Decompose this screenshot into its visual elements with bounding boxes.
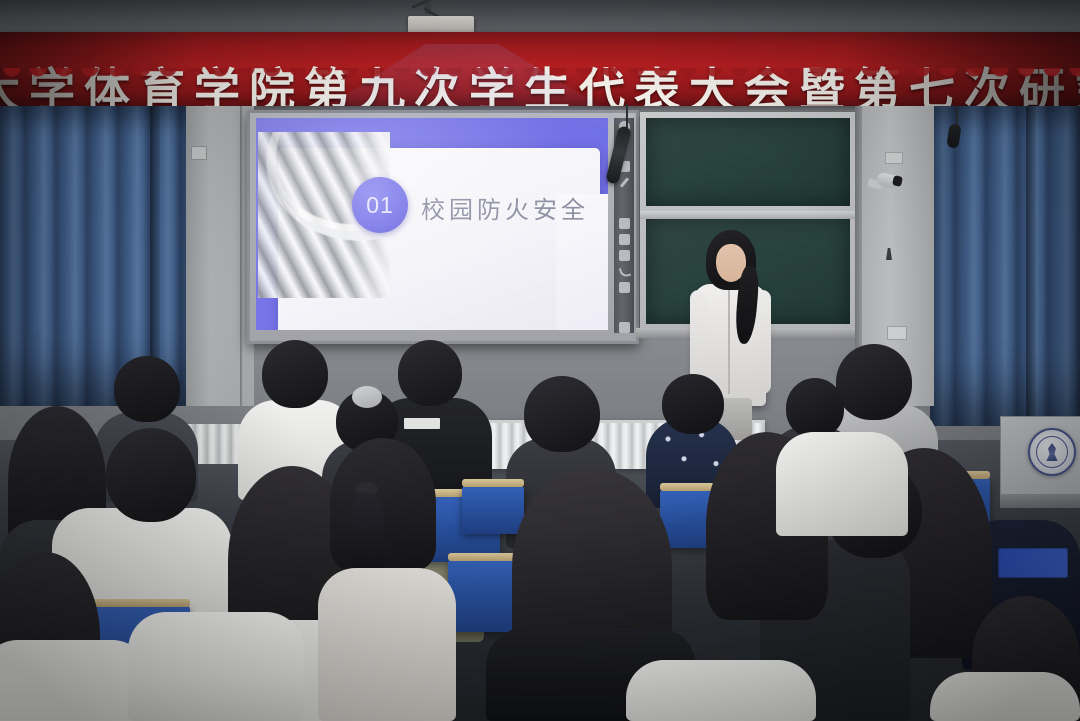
student-head <box>662 374 724 434</box>
student-head <box>836 344 912 420</box>
chair-trim <box>462 479 524 487</box>
student-head <box>786 378 844 438</box>
pen-icon[interactable] <box>619 177 630 188</box>
presenter-jacket-zip <box>728 290 730 394</box>
interactive-whiteboard[interactable]: 01 校园防火安全 <box>247 110 639 344</box>
hair-scrunchie <box>352 386 382 408</box>
wall-socket <box>191 146 207 160</box>
window-icon[interactable] <box>619 322 630 333</box>
wall-plate <box>885 152 903 164</box>
slide-number: 01 <box>366 192 394 219</box>
emblem-inner-ring <box>1036 436 1068 468</box>
slide-title: 校园防火安全 <box>421 190 589 225</box>
student-torso <box>128 612 304 721</box>
square-icon[interactable] <box>619 218 630 229</box>
classroom-photo: 大学体育学院第九次学生代表大会暨第七次研究生 01 校园防火安全 <box>0 0 1080 721</box>
chalkboard-pane-upper <box>646 118 850 206</box>
student-torso <box>776 432 908 536</box>
student-head <box>262 340 328 408</box>
emblem-plate-base <box>1000 494 1080 508</box>
slide-number-badge: 01 <box>352 177 408 233</box>
student-head <box>114 356 180 422</box>
phone-icon[interactable] <box>619 266 630 277</box>
curtain-fold <box>1026 106 1036 426</box>
chalkboard-divider-rail <box>640 211 856 219</box>
student-head <box>524 376 600 452</box>
student-torso <box>930 672 1080 721</box>
emblem-mark <box>1045 443 1059 461</box>
student-head <box>398 340 462 406</box>
student-torso <box>626 660 816 721</box>
grid-icon[interactable] <box>619 234 630 245</box>
wall-outlet <box>887 326 907 340</box>
wall-seam <box>240 106 243 406</box>
university-emblem-icon <box>1028 428 1076 476</box>
curtain-right <box>930 106 1080 426</box>
banner-scallop-trim <box>0 68 1080 80</box>
projected-slide: 01 校园防火安全 <box>256 118 608 330</box>
ceiling-strip <box>0 0 1080 32</box>
student-torso <box>318 568 456 721</box>
chair-trim <box>84 599 190 607</box>
chair[interactable] <box>462 486 524 534</box>
shirt-label-tag <box>404 418 440 429</box>
camera-icon[interactable] <box>619 282 630 293</box>
apps-icon[interactable] <box>619 250 630 261</box>
shirt-print <box>998 548 1068 578</box>
curtain-left <box>0 106 198 406</box>
student-head <box>106 428 196 522</box>
